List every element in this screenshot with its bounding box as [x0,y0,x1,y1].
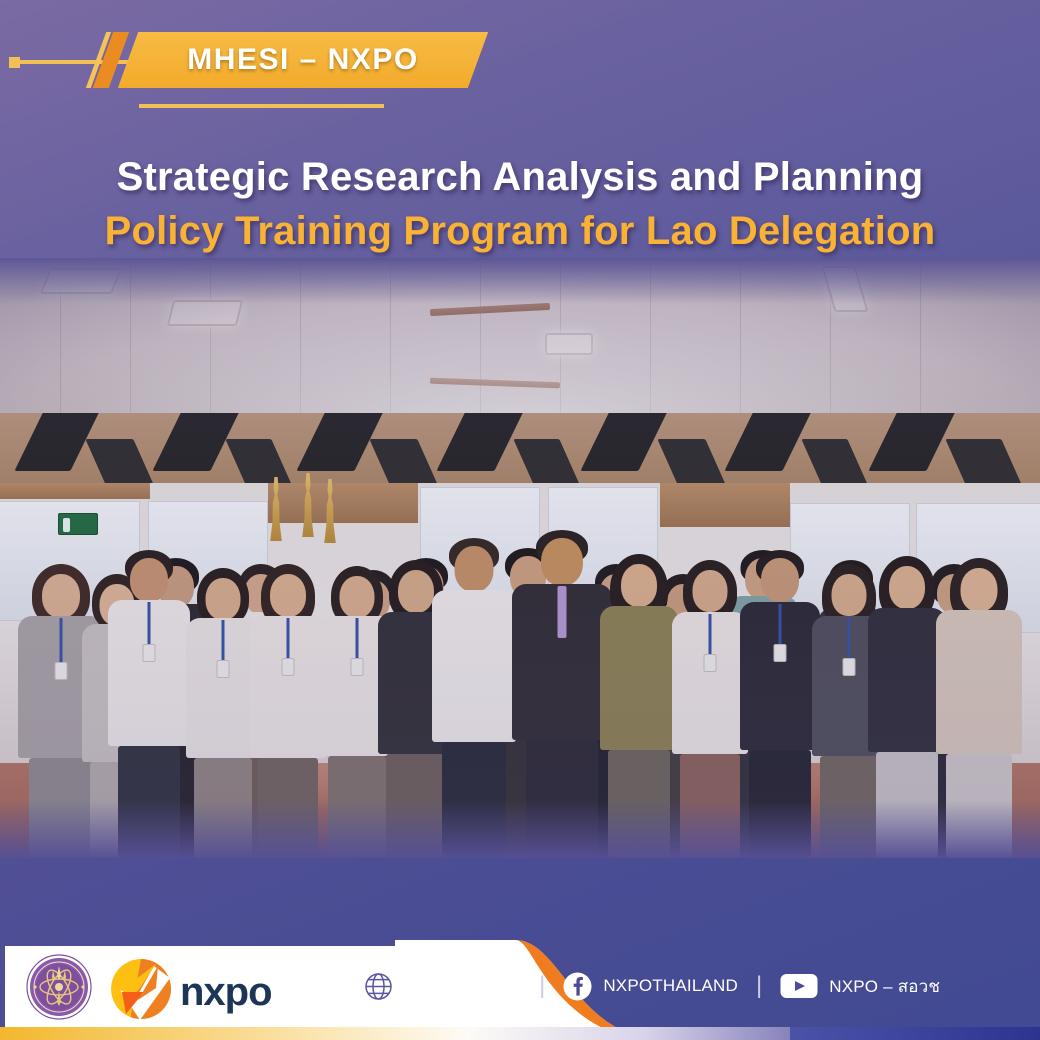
mhesi-seal-icon [26,954,92,1020]
person [936,552,1022,858]
nxpo-wordmark: nxpo [180,970,272,1015]
person [250,558,326,858]
person [512,528,612,858]
footer-link-youtube[interactable]: NXPO – สอวช [780,972,940,1000]
footer-links: www.nxpo.or.th | NXPOTHAILAND | NXPO – ส… [365,962,1035,1010]
person [672,554,748,858]
footer-link-youtube-label: NXPO – สอวช [829,973,940,1000]
footer-link-facebook-label: NXPOTHAILAND [603,976,738,996]
group-photo [0,258,1040,858]
footer-link-facebook[interactable]: NXPOTHAILAND [563,972,738,1001]
facebook-icon [563,972,592,1001]
ceiling [0,258,1040,423]
top-banner: MHESI – NXPO [0,0,1040,130]
person [186,562,260,858]
person [108,546,190,858]
footer-separator: | [539,972,545,1000]
footer-link-website-label: www.nxpo.or.th [403,976,521,996]
bottom-accent-strip-dark [790,1027,1040,1040]
person [600,548,678,858]
footer-bar: nxpo www.nxpo.or.th | [0,932,1040,1040]
person [868,550,946,858]
banner-label: MHESI – NXPO [128,32,478,88]
title-line-1: Strategic Research Analysis and Planning [0,152,1040,202]
person [740,546,820,858]
youtube-icon [780,972,818,1000]
globe-icon [365,973,392,1000]
photo-scene [0,258,1040,858]
footer-link-website[interactable]: www.nxpo.or.th [365,973,521,1000]
footer-separator: | [756,972,762,1000]
person [432,536,516,858]
heading-block: Strategic Research Analysis and Planning… [0,152,1040,256]
nxpo-logo-icon [110,958,172,1020]
deco-segment-horizontal-bottom [139,104,384,108]
poster-canvas: MHESI – NXPO Strategic Research Analysis… [0,0,1040,1040]
title-line-2: Policy Training Program for Lao Delegati… [0,206,1040,256]
